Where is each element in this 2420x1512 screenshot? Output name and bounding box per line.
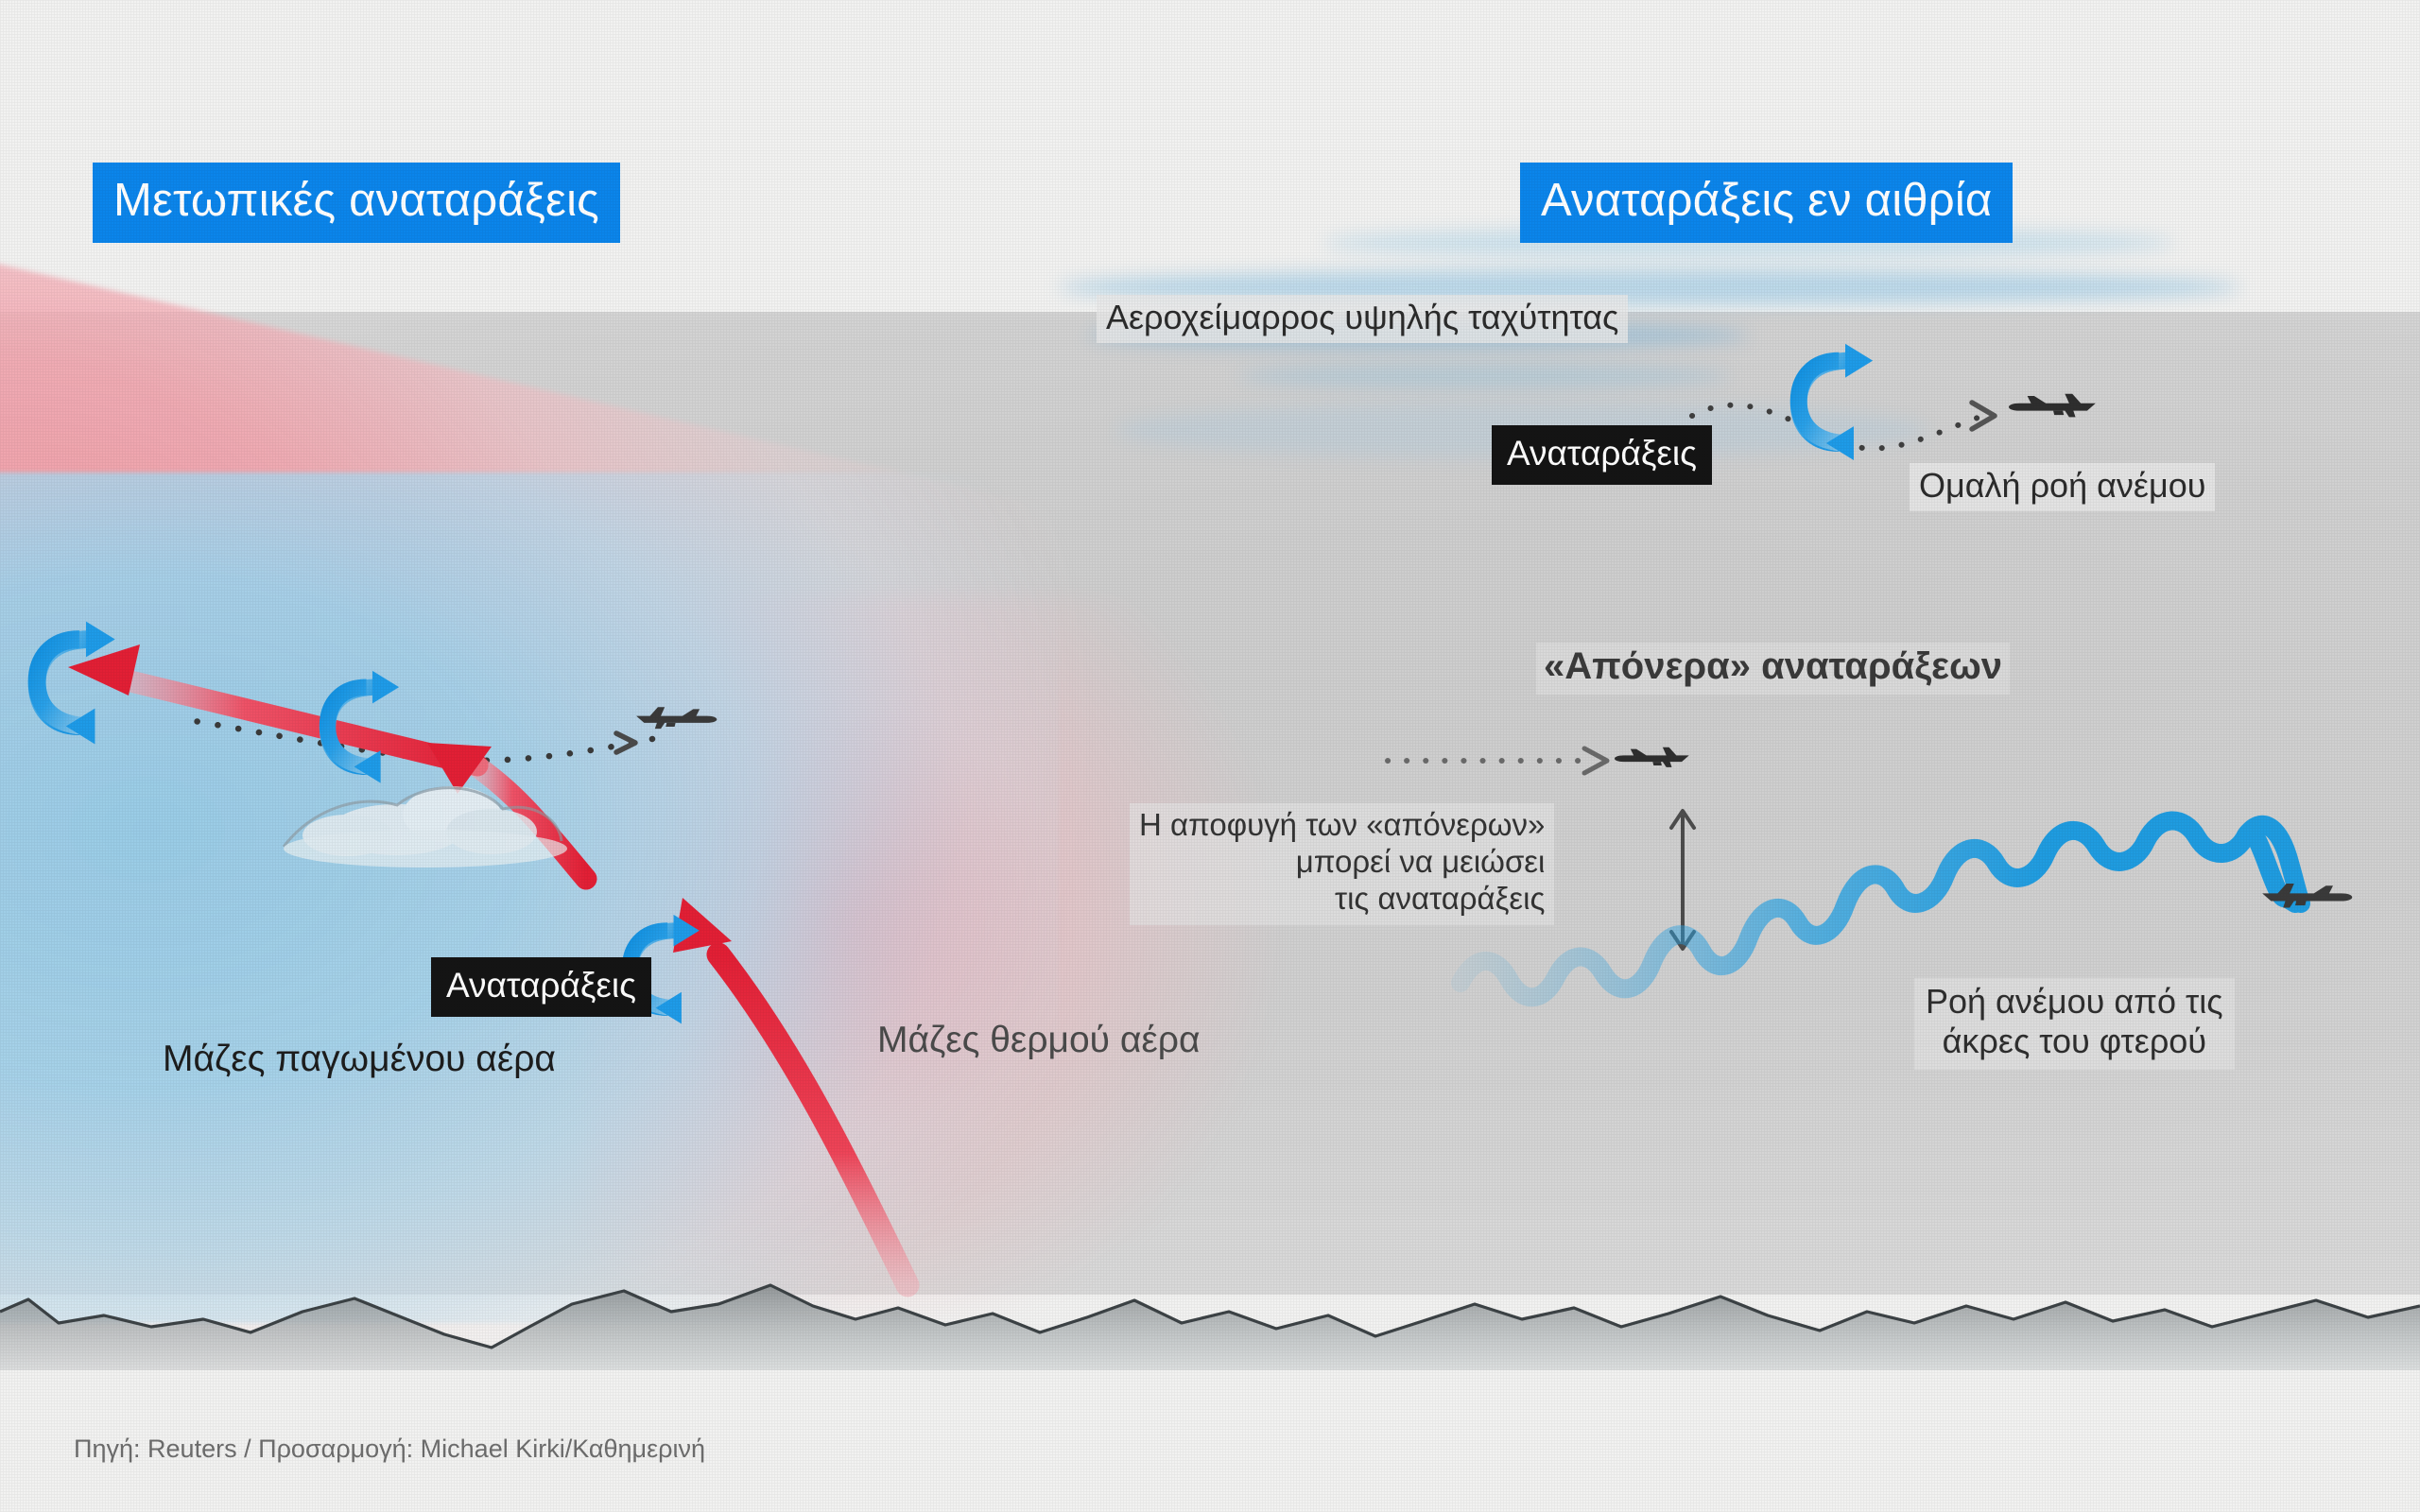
infographic-canvas: Μετωπικές αναταράξεις Αναταράξεις εν αιθ…: [0, 0, 2420, 1512]
film-grain-overlay: [0, 0, 2420, 1512]
